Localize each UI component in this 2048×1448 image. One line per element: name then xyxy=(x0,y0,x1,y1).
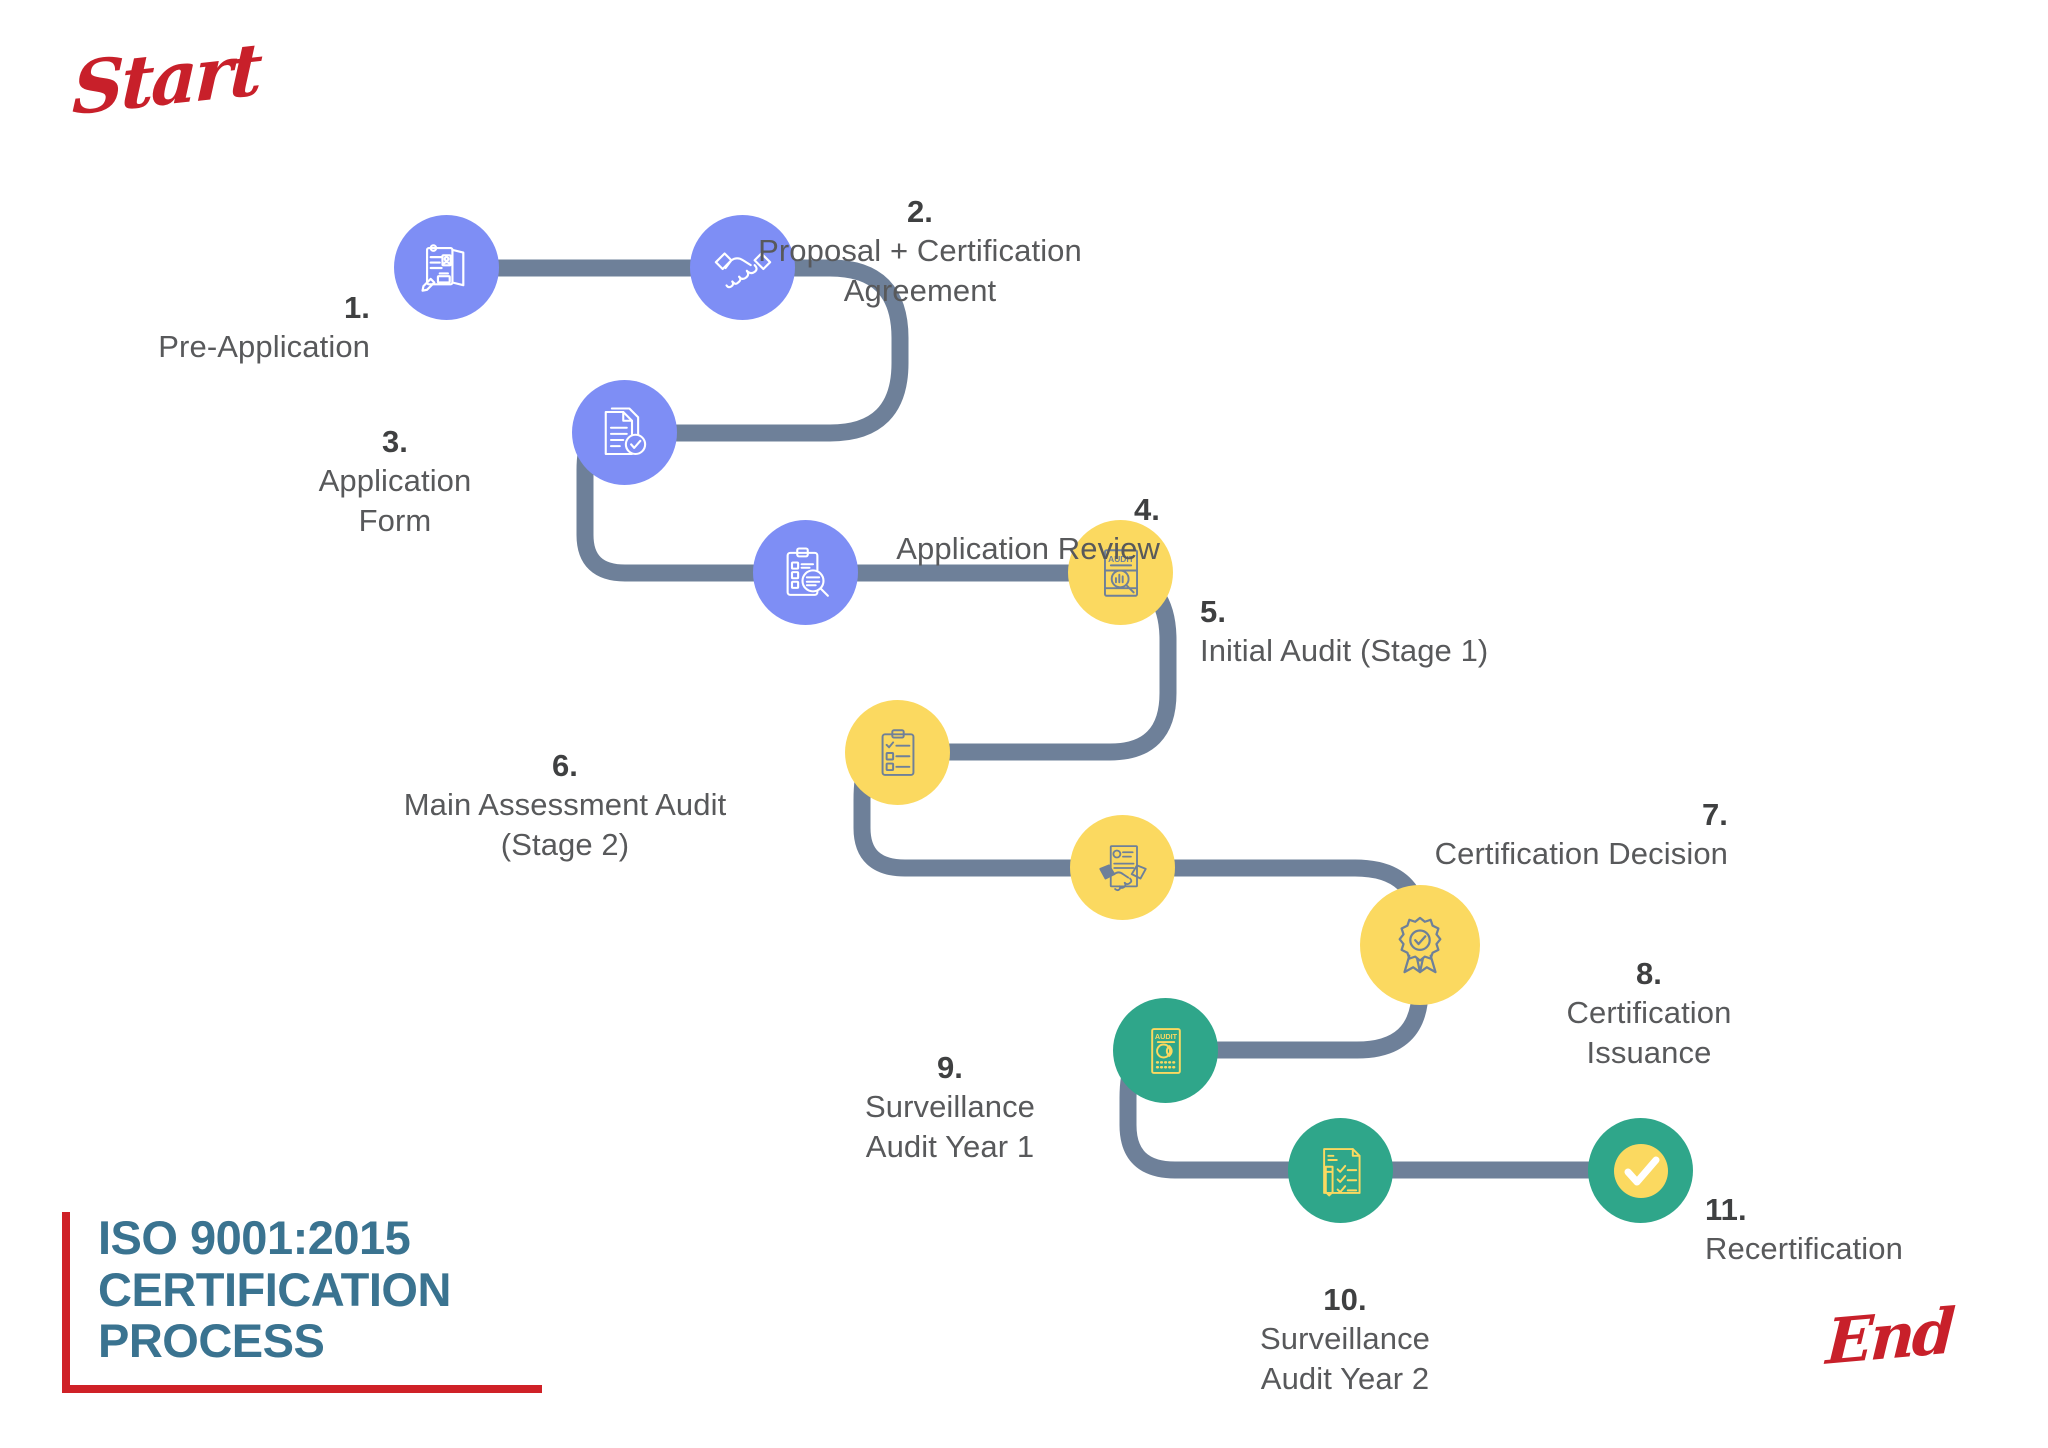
title-block: ISO 9001:2015 CERTIFICATION PROCESS xyxy=(62,1212,542,1393)
step-node-1[interactable] xyxy=(394,215,499,320)
step-number-5: 5. xyxy=(1200,594,1226,629)
step-label-4: 4. Application Review xyxy=(480,450,1160,569)
step-text-10: Surveillance Audit Year 2 xyxy=(1260,1321,1430,1396)
step-label-2: 2. Proposal + Certification Agreement xyxy=(620,152,1220,311)
step-text-1: Pre-Application xyxy=(158,329,370,364)
step-text-6: Main Assessment Audit (Stage 2) xyxy=(404,787,727,862)
step-text-9: Surveillance Audit Year 1 xyxy=(865,1089,1035,1164)
step-label-10: 10. Surveillance Audit Year 2 xyxy=(1185,1240,1505,1399)
step-node-8[interactable] xyxy=(1360,885,1480,1005)
step-number-2: 2. xyxy=(907,194,933,229)
award-ribbon-check-icon xyxy=(1389,914,1451,976)
step-number-6: 6. xyxy=(552,748,578,783)
audit-booklet-icon: AUDIT xyxy=(1140,1025,1192,1077)
check-circle-icon xyxy=(1609,1139,1673,1203)
step-label-5: 5. Initial Audit (Stage 1) xyxy=(1200,552,1800,671)
step-number-10: 10. xyxy=(1323,1282,1366,1317)
step-label-7: 7. Certification Decision xyxy=(1108,755,1728,874)
svg-text:AUDIT: AUDIT xyxy=(1154,1031,1177,1040)
infographic-canvas: AUDIT xyxy=(0,0,2048,1448)
step-label-11: 11. Recertification xyxy=(1705,1150,2035,1269)
step-text-8: Certification Issuance xyxy=(1567,995,1732,1070)
step-label-1: 1. Pre-Application xyxy=(20,248,370,367)
step-text-2: Proposal + Certification Agreement xyxy=(758,233,1082,308)
step-node-11[interactable] xyxy=(1588,1118,1693,1223)
step-text-4: Application Review xyxy=(896,531,1160,566)
start-script-label: Start xyxy=(71,26,261,131)
step-node-10[interactable] xyxy=(1288,1118,1393,1223)
step-node-6[interactable] xyxy=(845,700,950,805)
page-title: ISO 9001:2015 CERTIFICATION PROCESS xyxy=(98,1212,542,1367)
step-node-9[interactable]: AUDIT xyxy=(1113,998,1218,1103)
checklist-clipboard-icon xyxy=(872,727,924,779)
step-label-6: 6. Main Assessment Audit (Stage 2) xyxy=(310,706,820,865)
step-text-3: Application Form xyxy=(319,463,472,538)
step-number-3: 3. xyxy=(382,424,408,459)
step-number-7: 7. xyxy=(1702,797,1728,832)
step-label-8: 8. Certification Issuance xyxy=(1494,914,1804,1073)
step-number-9: 9. xyxy=(937,1050,963,1085)
step-text-7: Certification Decision xyxy=(1435,836,1728,871)
end-script-label: End xyxy=(1824,1294,1954,1379)
step-number-4: 4. xyxy=(1134,492,1160,527)
step-text-5: Initial Audit (Stage 1) xyxy=(1200,633,1488,668)
step-number-11: 11. xyxy=(1705,1192,1747,1227)
step-label-9: 9. Surveillance Audit Year 1 xyxy=(800,1008,1100,1167)
checklist-pencil-icon xyxy=(1314,1144,1368,1198)
step-text-11: Recertification xyxy=(1705,1231,1903,1266)
application-document-pen-icon xyxy=(418,239,476,297)
step-number-8: 8. xyxy=(1636,956,1662,991)
step-number-1: 1. xyxy=(344,290,370,325)
